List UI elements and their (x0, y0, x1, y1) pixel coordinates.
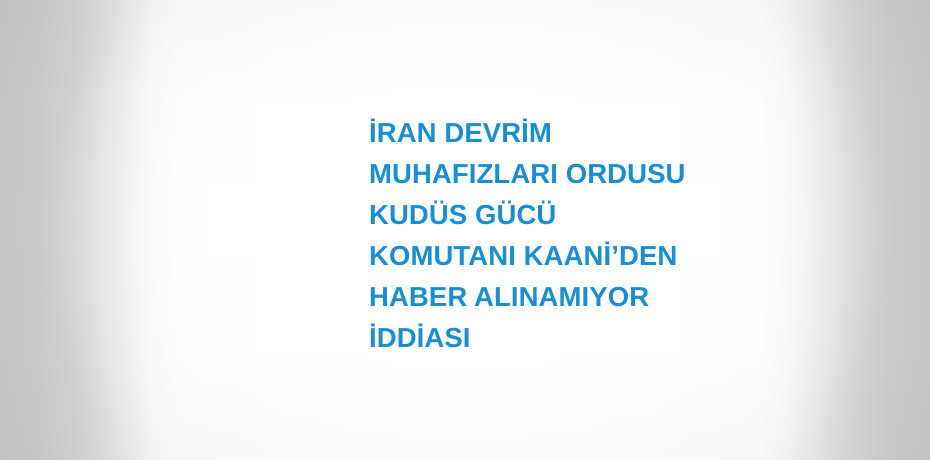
news-headline-card: İRAN DEVRİM MUHAFIZLARI ORDUSU KUDÜS GÜC… (0, 0, 930, 460)
headline-line-3: KUDÜS GÜCÜ (369, 194, 789, 235)
headline-line-1: İRAN DEVRİM (369, 112, 789, 153)
headline-text: İRAN DEVRİM MUHAFIZLARI ORDUSU KUDÜS GÜC… (369, 112, 789, 358)
headline-line-2: MUHAFIZLARI ORDUSU (369, 153, 789, 194)
headline-line-4: KOMUTANI KAANİ’DEN (369, 235, 789, 276)
headline-line-6: İDDİASI (369, 317, 789, 358)
headline-line-5: HABER ALINAMIYOR (369, 276, 789, 317)
